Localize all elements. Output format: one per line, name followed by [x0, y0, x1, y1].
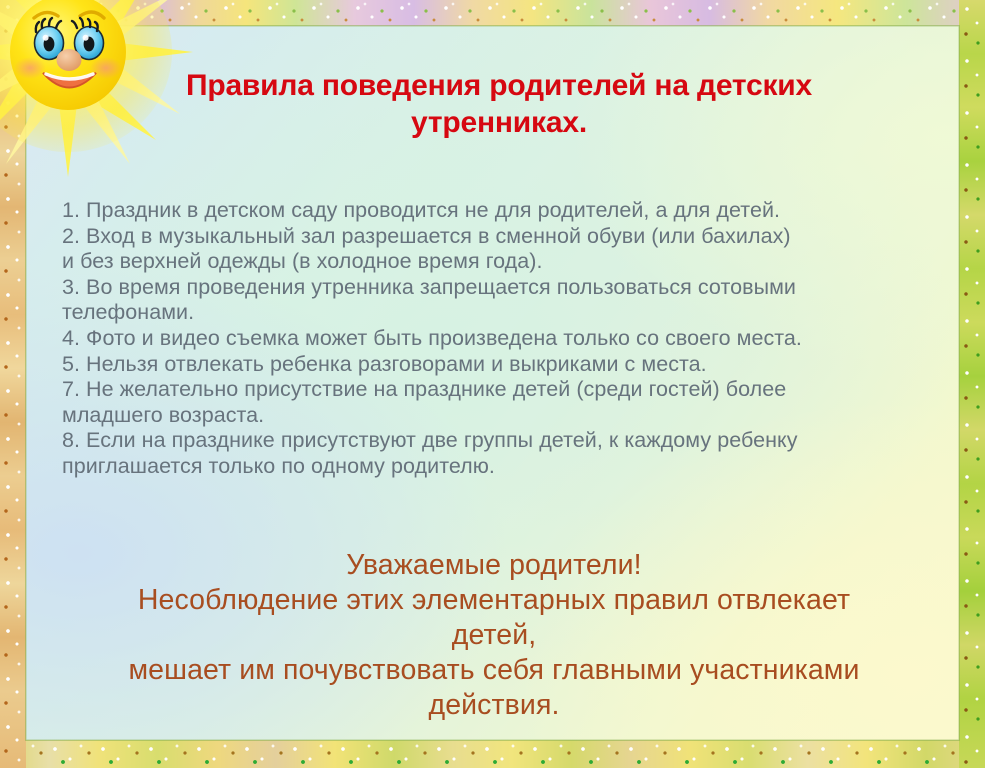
list-item: 8. Если на празднике присутствуют две гр… — [62, 428, 924, 479]
page-title: Правила поведения родителей на детских у… — [138, 68, 860, 141]
list-item: 2. Вход в музыкальный зал разрешается в … — [62, 224, 924, 275]
list-item: 5. Нельзя отвлекать ребенка разговорами … — [62, 352, 924, 378]
poster-canvas: Правила поведения родителей на детских у… — [0, 0, 985, 768]
list-item: 4. Фото и видео съемка может быть произв… — [62, 326, 924, 352]
closing-line-1: Несоблюдение этих элементарных правил от… — [58, 583, 930, 653]
list-item: 1. Праздник в детском саду проводится не… — [62, 198, 924, 224]
rules-list: 1. Праздник в детском саду проводится не… — [62, 198, 924, 480]
poster-content: Правила поведения родителей на детских у… — [0, 0, 985, 768]
list-item: 3. Во время проведения утренника запреща… — [62, 275, 924, 326]
closing-line-2: мешает им почувствовать себя главными уч… — [58, 653, 930, 723]
closing-message: Уважаемые родители! Несоблюдение этих эл… — [58, 548, 930, 723]
closing-salutation: Уважаемые родители! — [58, 548, 930, 583]
list-item: 7. Не желательно присутствие на праздник… — [62, 377, 924, 428]
